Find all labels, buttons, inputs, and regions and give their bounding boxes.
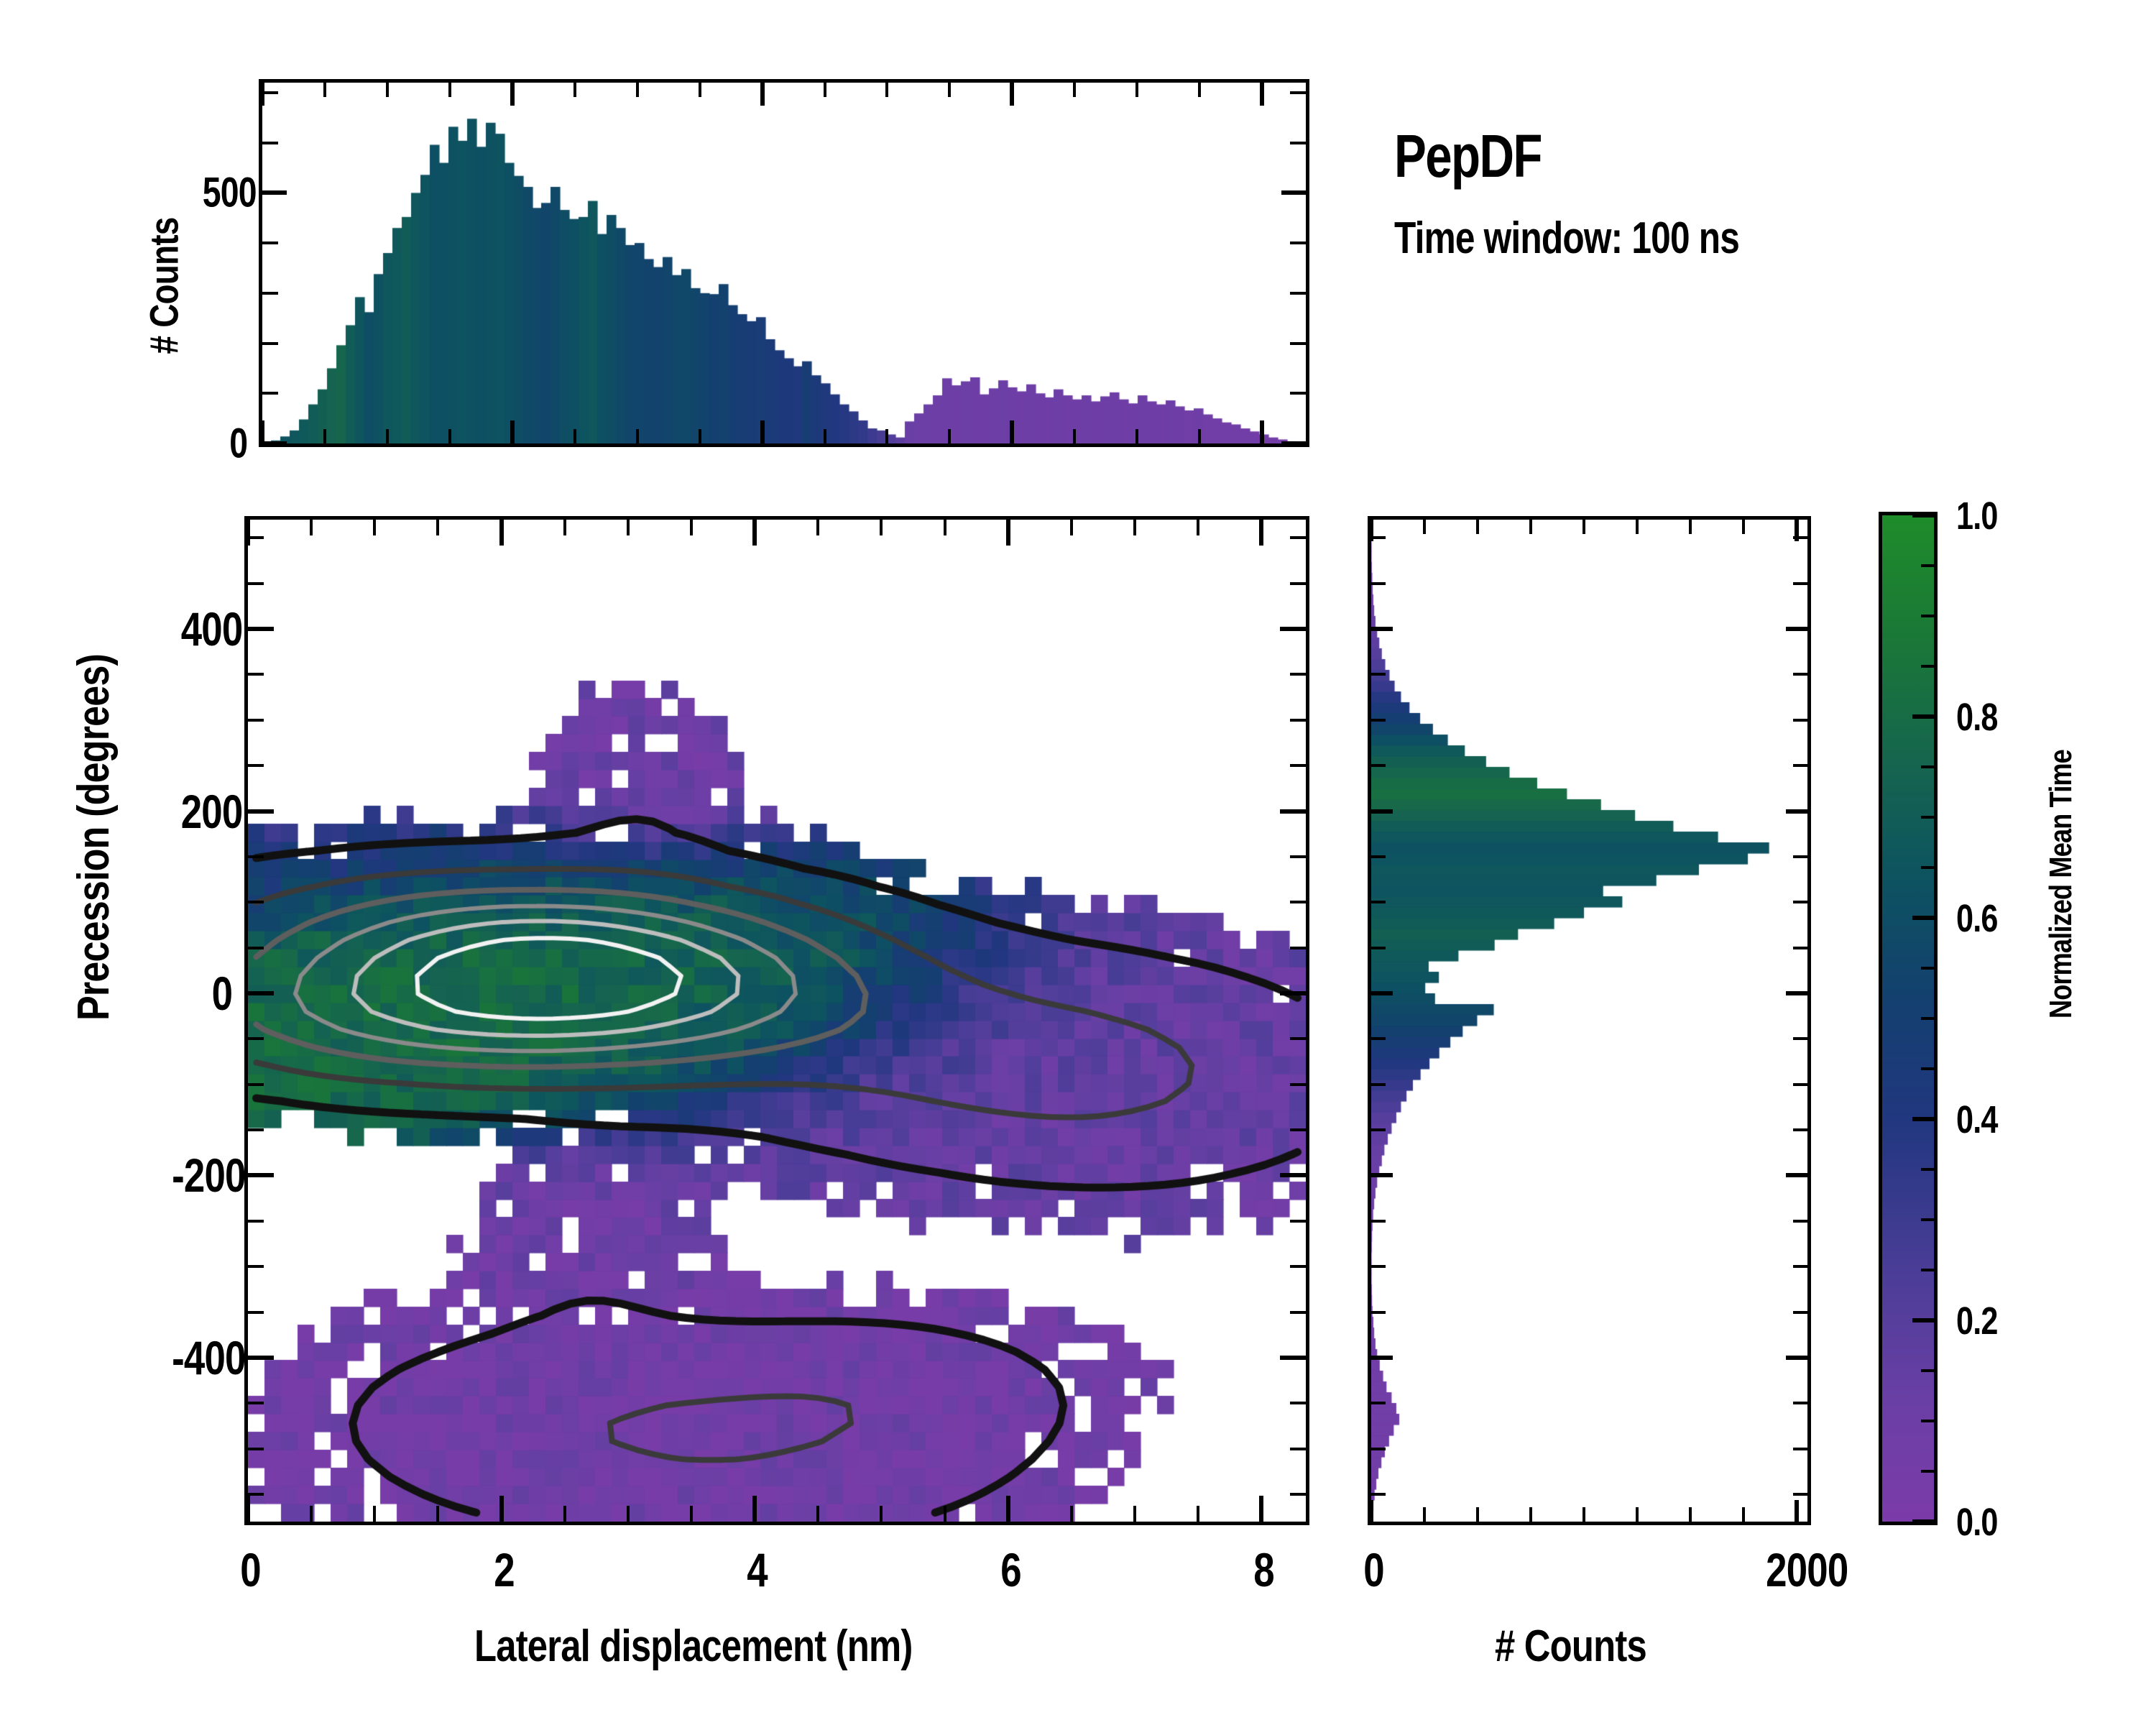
axis-tick [1010,83,1014,106]
axis-tick [944,1506,946,1522]
axis-tick [816,520,819,535]
right-panel-xlabel: # Counts [1495,1621,1646,1672]
axis-tick [1133,520,1136,535]
axis-tick [1259,520,1263,546]
axis-tick [1290,1402,1306,1404]
axis-tick [1793,582,1807,585]
axis-tick [636,83,639,97]
axis-tick [246,520,250,546]
main-panel-xlabel: Lateral displacement (nm) [474,1621,913,1672]
axis-tick [248,809,274,814]
axis-tick-label: 400 [181,602,243,656]
axis-tick [1912,513,1934,517]
axis-tick [262,142,278,144]
axis-tick [636,429,639,443]
axis-tick-label: 500 [203,169,257,217]
colorbar-tick-label: 1.0 [1956,494,1998,538]
axis-tick [1290,536,1306,539]
axis-tick [824,83,826,97]
right-histogram-panel [1368,516,1811,1525]
axis-tick [885,429,888,443]
axis-tick [563,1506,566,1522]
axis-tick [248,1083,264,1086]
axis-tick [1793,901,1807,903]
axis-tick [248,947,264,949]
axis-tick [1290,342,1306,345]
axis-tick-label: 8 [1254,1542,1275,1597]
axis-tick [1476,520,1479,534]
axis-tick [248,764,264,767]
axis-tick [1921,1470,1934,1473]
axis-tick-label: 0 [240,1542,261,1597]
axis-tick [1371,1083,1386,1086]
axis-tick [1371,1448,1386,1450]
axis-tick [1198,83,1201,97]
axis-tick [1912,916,1934,920]
axis-tick [499,520,504,546]
axis-tick [248,1402,264,1404]
axis-tick [1921,967,1934,970]
axis-tick [1290,1265,1306,1268]
axis-tick [1921,1067,1934,1070]
axis-tick [323,83,326,97]
axis-tick [690,520,693,535]
axis-tick [1290,1448,1306,1450]
axis-tick [1476,1507,1479,1522]
axis-tick [1423,1507,1426,1522]
axis-tick [1070,1506,1073,1522]
axis-tick [1793,536,1807,539]
axis-tick [948,429,951,443]
axis-tick [1371,1220,1386,1223]
colorbar-tick-label: 0.0 [1956,1500,1998,1545]
axis-tick [248,1037,264,1040]
axis-tick [373,1506,376,1522]
axis-tick [1371,947,1386,949]
axis-tick [1793,1448,1807,1450]
axis-tick [1912,1117,1934,1121]
axis-tick [1073,429,1076,443]
axis-tick [1197,1506,1199,1522]
axis-tick-label: 200 [181,784,243,839]
axis-tick [262,190,287,195]
axis-tick [1290,1128,1306,1131]
axis-tick [248,1311,264,1314]
axis-tick [510,420,515,443]
axis-tick [1260,83,1264,106]
colorbar-tick-label: 0.2 [1956,1299,1998,1343]
axis-tick [448,83,451,97]
axis-tick [1290,241,1306,244]
axis-tick [1786,627,1807,631]
main-heatmap-canvas [248,520,1306,1522]
axis-tick [1793,947,1807,949]
axis-tick [262,342,278,345]
axis-tick [1371,536,1386,539]
axis-tick [262,292,278,295]
axis-tick [1921,564,1934,567]
axis-tick [1290,91,1306,94]
axis-tick [1921,615,1934,617]
colorbar-tick-label: 0.4 [1956,1098,1998,1142]
axis-tick [1290,1220,1306,1223]
axis-tick [1795,1500,1799,1522]
axis-tick [1689,1507,1692,1522]
axis-tick [1921,1218,1934,1221]
axis-tick [1290,901,1306,903]
axis-tick [1371,809,1393,814]
axis-tick [1921,1369,1934,1372]
axis-tick [573,429,576,443]
axis-tick [248,855,264,858]
axis-tick [1371,1128,1386,1131]
axis-tick [1260,420,1264,443]
axis-tick [373,520,376,535]
axis-tick-label: 6 [1000,1542,1021,1597]
axis-tick [1290,1037,1306,1040]
axis-tick-label: -400 [172,1330,245,1385]
axis-tick [1290,764,1306,767]
axis-tick [1786,1356,1807,1360]
axis-tick [1010,420,1014,443]
axis-tick [1197,520,1199,535]
axis-tick [1793,673,1807,676]
axis-tick [248,1173,274,1177]
axis-tick [260,420,264,443]
axis-tick [1290,855,1306,858]
axis-tick [1371,1311,1386,1314]
axis-tick [1529,1507,1532,1522]
axis-tick [248,719,264,722]
axis-tick [448,429,451,443]
axis-tick [1742,1507,1745,1522]
figure-root: PepDF Time window: 100 ns 0500 # Counts … [0,0,2156,1725]
axis-tick [1921,866,1934,869]
axis-tick [1793,1493,1807,1496]
axis-tick [1912,1519,1934,1524]
page-title: PepDF [1394,126,1739,186]
axis-tick [1921,765,1934,768]
axis-tick [880,1506,883,1522]
axis-tick [944,520,946,535]
axis-tick [1912,1318,1934,1322]
axis-tick [627,1506,630,1522]
axis-tick [1921,1017,1934,1020]
axis-tick [1280,809,1306,814]
axis-tick [248,1265,264,1268]
axis-tick [323,429,326,443]
axis-tick [1793,1220,1807,1223]
axis-tick [1793,1265,1807,1268]
axis-tick [310,520,313,535]
axis-tick [386,83,389,97]
top-histogram-canvas [262,83,1306,443]
axis-tick [699,83,701,97]
axis-tick [1921,1168,1934,1171]
main-panel-ylabel: Precession (degrees) [68,654,119,1021]
axis-tick [1689,520,1692,534]
axis-tick [816,1506,819,1522]
axis-tick [760,420,765,443]
axis-tick [1290,1311,1306,1314]
axis-tick [248,673,264,676]
axis-tick [248,1220,264,1223]
axis-tick [1290,1083,1306,1086]
axis-tick [1793,855,1807,858]
axis-tick [1371,901,1386,903]
axis-tick [1280,1173,1306,1177]
axis-tick [885,83,888,97]
axis-tick [1793,719,1807,722]
axis-tick [752,520,757,546]
axis-tick [1371,1037,1386,1040]
axis-tick [699,429,701,443]
colorbar-label: Normalized Mean Time [2043,750,2079,1018]
axis-tick [1921,1269,1934,1271]
axis-tick [1073,83,1076,97]
axis-tick-label: 0 [229,420,247,468]
axis-tick [386,429,389,443]
title-block: PepDF Time window: 100 ns [1394,126,1825,261]
axis-tick [1786,809,1807,814]
axis-tick [1371,1173,1393,1177]
axis-tick [1793,1083,1807,1086]
axis-tick [1280,627,1306,631]
axis-tick [1135,83,1138,97]
axis-tick [1529,520,1532,534]
axis-tick [262,91,278,94]
axis-tick-label: 4 [747,1542,768,1597]
axis-tick [1371,1356,1393,1360]
axis-tick [1786,1173,1807,1177]
axis-tick-label: -200 [172,1148,245,1202]
axis-tick [1742,520,1745,534]
axis-tick [1912,714,1934,719]
axis-tick [1371,582,1386,585]
axis-tick [1636,1507,1639,1522]
axis-tick [436,520,439,535]
axis-tick [262,392,278,395]
axis-tick [248,991,274,995]
axis-tick [262,441,287,446]
axis-tick [752,1496,757,1522]
axis-tick [248,1356,274,1360]
axis-tick [1921,1420,1934,1422]
axis-tick [1070,520,1073,535]
axis-tick [1290,142,1306,144]
axis-tick [627,520,630,535]
axis-tick [880,520,883,535]
axis-tick [248,901,264,903]
axis-tick [1290,719,1306,722]
colorbar-tick-label: 0.6 [1956,896,1998,941]
axis-tick [824,429,826,443]
axis-tick [1290,1493,1306,1496]
axis-tick [1583,1507,1585,1522]
axis-tick [1793,1311,1807,1314]
axis-tick [1793,1037,1807,1040]
axis-tick [248,582,264,585]
main-heatmap-panel [244,516,1309,1525]
axis-tick [1921,816,1934,819]
axis-tick [1290,392,1306,395]
axis-tick [1921,665,1934,668]
axis-tick [1371,1493,1386,1496]
axis-tick-label: 0 [212,966,233,1021]
axis-tick [690,1506,693,1522]
axis-tick [1006,520,1010,546]
axis-tick [1133,1506,1136,1522]
axis-tick [1636,520,1639,534]
axis-tick [1371,991,1393,995]
axis-tick [1259,1496,1263,1522]
axis-tick [1583,520,1585,534]
top-panel-ylabel: # Counts [140,218,187,354]
axis-tick [1198,429,1201,443]
axis-tick [1280,1356,1306,1360]
axis-tick [1290,673,1306,676]
axis-tick [1280,991,1306,995]
axis-tick [248,1493,264,1496]
axis-tick [248,627,274,631]
axis-tick-label: 2000 [1766,1542,1848,1597]
axis-tick [1793,764,1807,767]
axis-tick [1290,582,1306,585]
axis-tick [499,1496,504,1522]
axis-tick [1281,441,1306,446]
axis-tick [1281,190,1306,195]
axis-tick [1423,520,1426,534]
axis-tick [948,83,951,97]
axis-tick [1290,292,1306,295]
axis-tick [1371,764,1386,767]
axis-tick [1371,855,1386,858]
axis-tick [246,1496,250,1522]
axis-tick [310,1506,313,1522]
axis-tick-label: 2 [494,1542,515,1597]
figure-subtitle: Time window: 100 ns [1394,216,1739,261]
axis-tick [573,83,576,97]
axis-tick [436,1506,439,1522]
axis-tick [1371,1402,1386,1404]
axis-tick [1371,1265,1386,1268]
axis-tick [1369,1500,1373,1522]
axis-tick [262,241,278,244]
axis-tick [1793,1402,1807,1404]
axis-tick [1135,429,1138,443]
axis-tick [1786,991,1807,995]
axis-tick [563,520,566,535]
axis-tick [248,536,264,539]
axis-tick [1371,673,1386,676]
axis-tick [510,83,515,106]
axis-tick [248,1448,264,1450]
colorbar-tick-label: 0.8 [1956,695,1998,740]
axis-tick [248,1128,264,1131]
right-histogram-canvas [1371,520,1807,1522]
axis-tick [1006,1496,1010,1522]
axis-tick [1290,947,1306,949]
top-histogram-panel [259,79,1309,447]
axis-tick [260,83,264,106]
axis-tick [1793,1128,1807,1131]
axis-tick [1371,627,1393,631]
axis-tick-label: 0 [1363,1542,1384,1597]
axis-tick [1371,719,1386,722]
axis-tick [760,83,765,106]
